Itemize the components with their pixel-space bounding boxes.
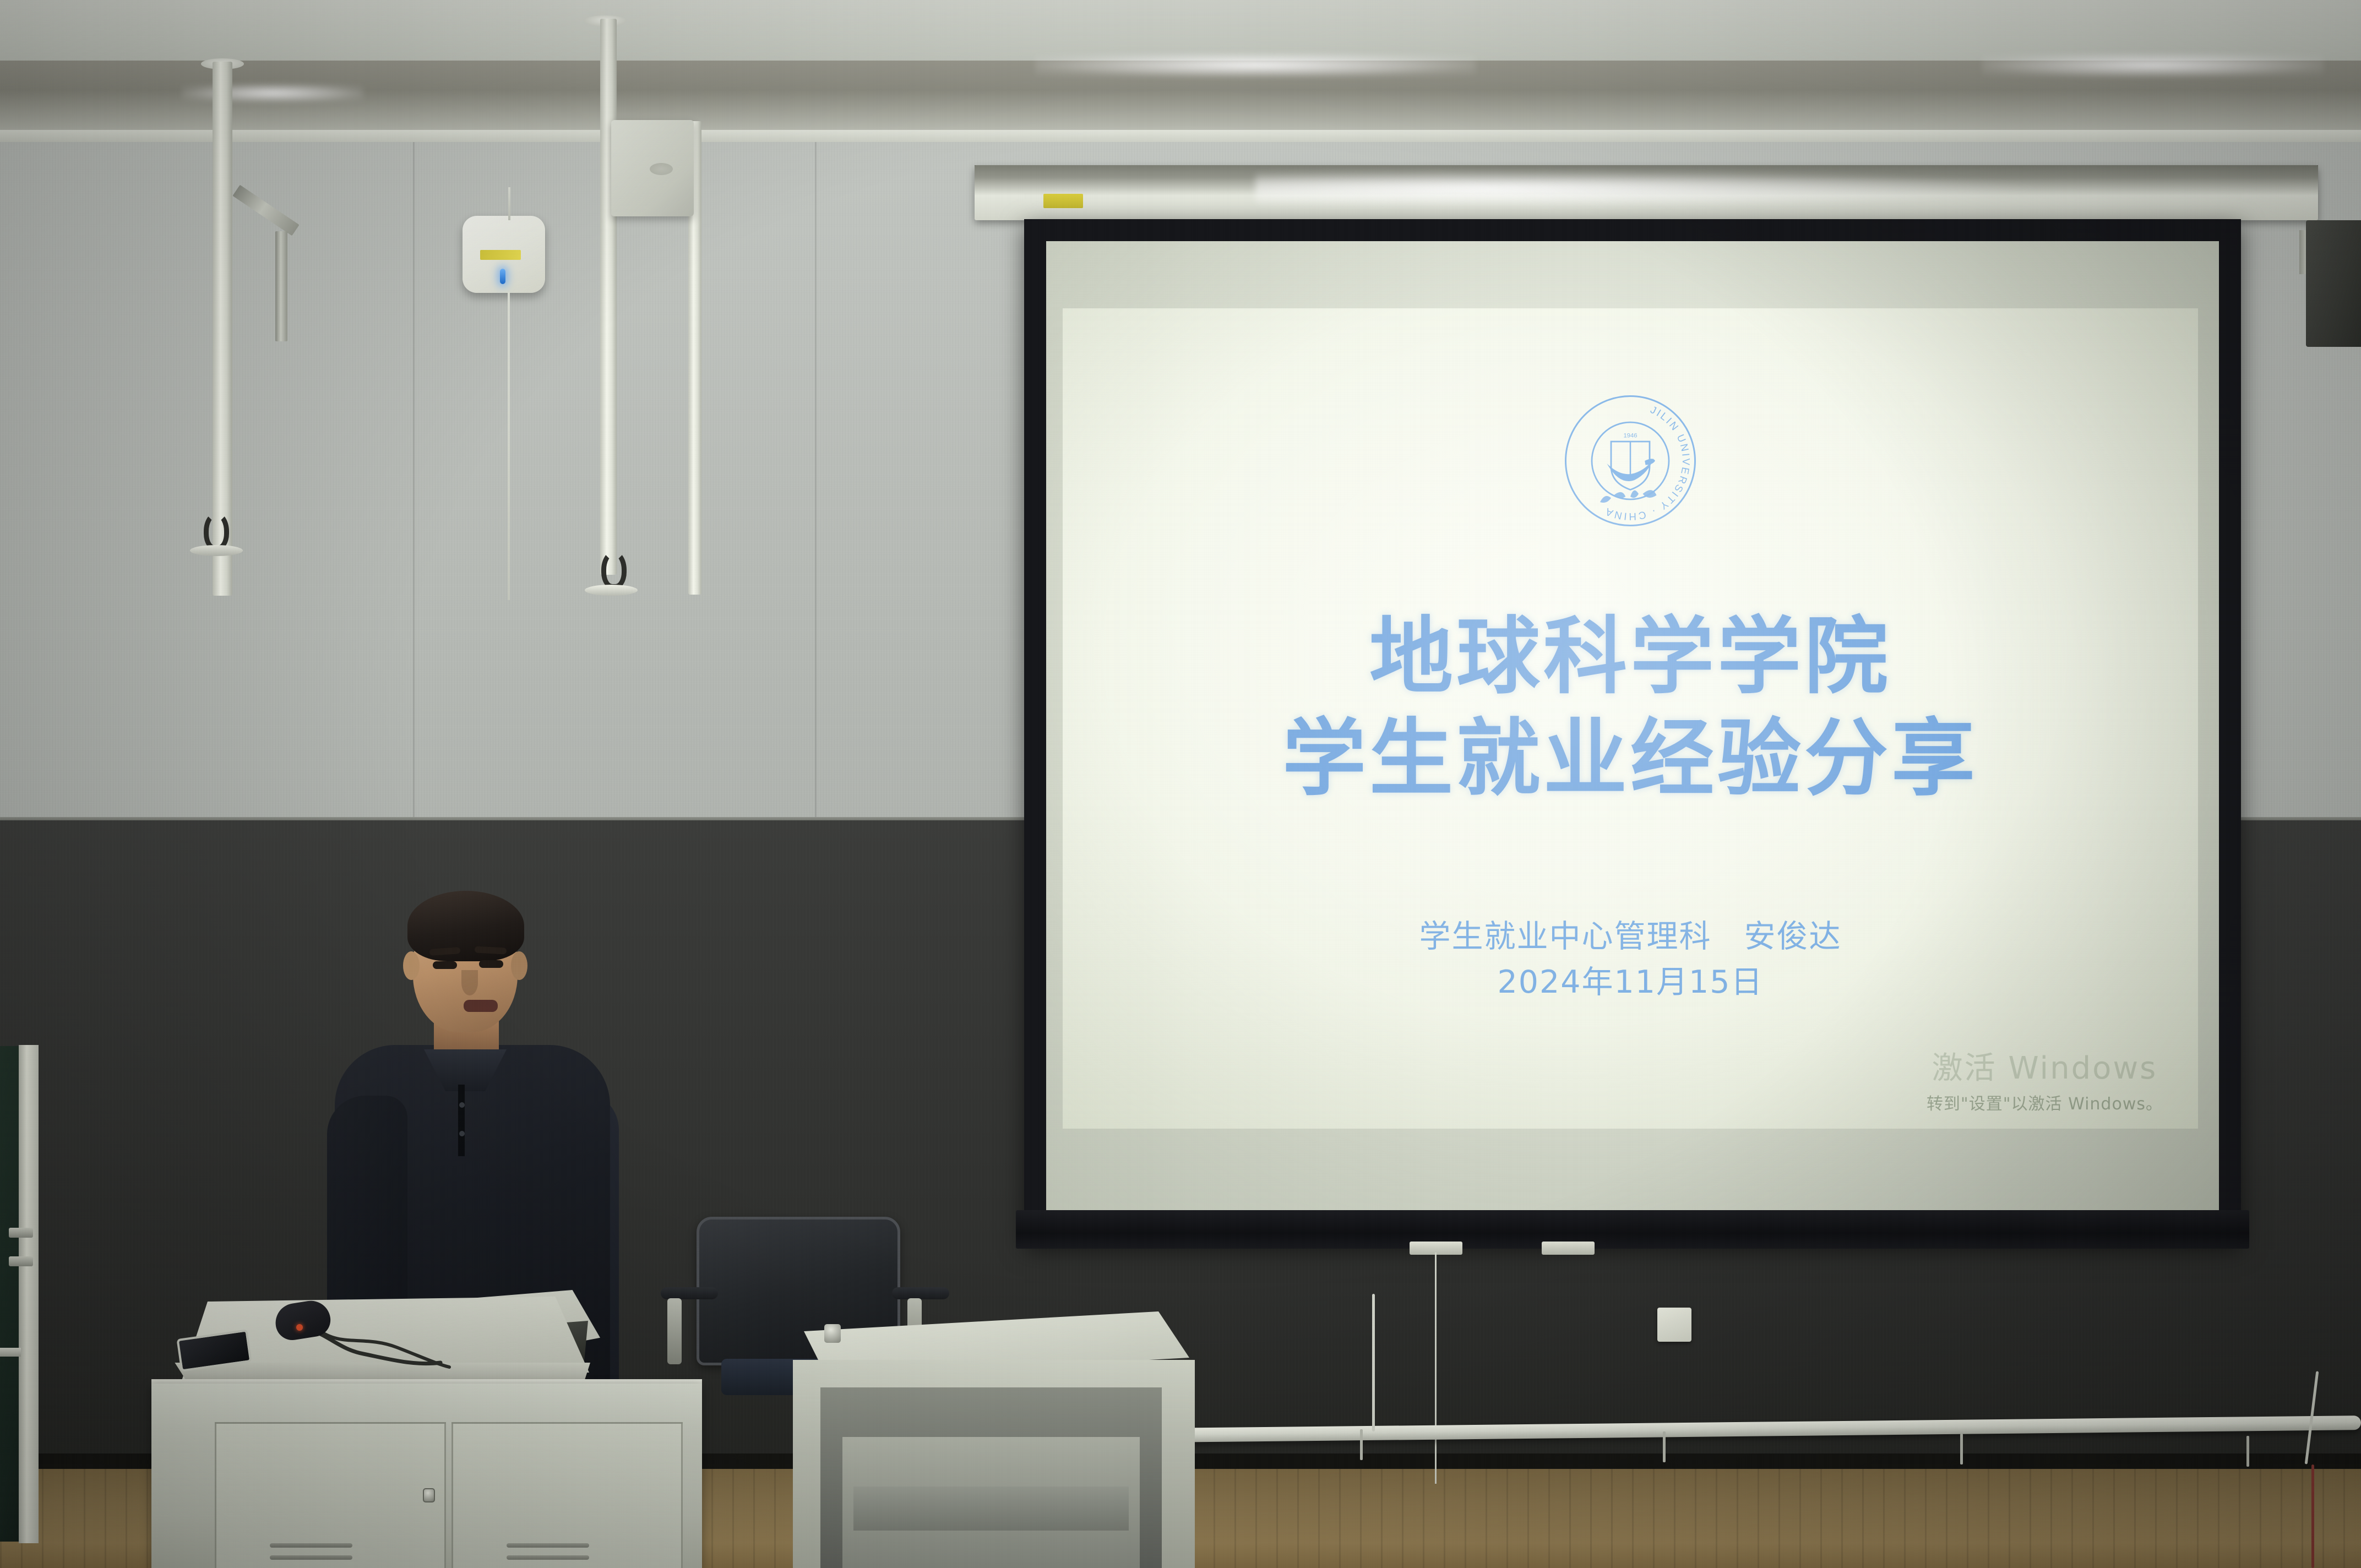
ceiling-hook-right [601, 551, 627, 589]
red-wire-right [2311, 1464, 2314, 1568]
conduit-strap-2 [1663, 1431, 1666, 1462]
hanging-wire-left [1372, 1294, 1375, 1431]
slide-title-line-2: 学生就业经验分享 [1063, 707, 2198, 809]
presenter-button-2 [459, 1131, 465, 1136]
slide-subtitle: 学生就业中心管理科 安俊达 2024年11月15日 [1063, 914, 2198, 1005]
screen-clip-right [1542, 1242, 1595, 1255]
ceiling-hook-left-plate [190, 545, 243, 556]
access-point-led-icon [500, 269, 505, 284]
presenter-ear-left [403, 951, 420, 980]
screen-housing-glare [1255, 170, 2054, 208]
presenter-hair [407, 891, 524, 961]
lectern [165, 1297, 820, 1568]
chalkboard-frame [19, 1045, 39, 1543]
access-point-cable-top [508, 187, 510, 220]
presenter-eye-right [479, 960, 503, 968]
watermark-title: 激活 Windows [1927, 1052, 2163, 1086]
photo-scene: JILIN UNIVERSITY · CHINA 1946 地球科学学院 学生就… [0, 0, 2361, 1568]
ceiling-light-right [1982, 53, 2324, 77]
pole-bracket-left-arm [275, 231, 287, 341]
wifi-access-point [463, 216, 545, 293]
lectern-vent-right-1 [507, 1543, 589, 1548]
wall-speaker-right [2306, 220, 2361, 347]
conduit-strap-4 [2246, 1436, 2249, 1467]
ceiling-hook-right-plate [585, 585, 638, 596]
projector-mount-dot [650, 163, 673, 175]
presenter-nose [461, 970, 478, 995]
screen-drop-cord [1435, 1253, 1437, 1484]
ceiling-light-far-left [182, 84, 363, 102]
wall-seam-2 [815, 142, 817, 825]
wall-seam-1 [413, 142, 415, 825]
presenter-placket [458, 1085, 465, 1156]
slide-subtitle-line-1: 学生就业中心管理科 安俊达 [1063, 914, 2198, 960]
presenter-button-1 [459, 1102, 465, 1108]
chalkboard-clip-1 [9, 1228, 33, 1238]
wall-power-outlet[interactable] [1657, 1308, 1691, 1342]
chalkboard-chalk-rail [0, 1348, 21, 1357]
access-point-cable-drop [508, 292, 510, 600]
presenter-ear-right [511, 951, 527, 980]
screen-warning-label [1043, 194, 1083, 208]
slide-title: 地球科学学院 学生就业经验分享 [1063, 606, 2198, 810]
lectern-lock[interactable] [423, 1488, 435, 1502]
ceiling-pole-right [600, 19, 617, 575]
lectern-vent-left-1 [270, 1543, 352, 1548]
equipment-cabinet-lock[interactable] [824, 1324, 841, 1343]
projected-slide: JILIN UNIVERSITY · CHINA 1946 地球科学学院 学生就… [1063, 308, 2198, 1129]
watermark-subtitle: 转到"设置"以激活 Windows。 [1927, 1090, 2163, 1114]
office-chair-arm-right-top [892, 1287, 949, 1299]
jilin-university-seal-icon: JILIN UNIVERSITY · CHINA 1946 [1562, 392, 1699, 530]
projection-screen-bottom-bar [1016, 1210, 2249, 1249]
windows-activation-watermark: 激活 Windows 转到"设置"以激活 Windows。 [1927, 1052, 2163, 1114]
svg-text:1946: 1946 [1623, 433, 1637, 439]
slide-title-line-1: 地球科学学院 [1063, 606, 2198, 707]
equipment-cabinet-computer [853, 1487, 1129, 1531]
ceiling-light-left [1035, 53, 1476, 77]
chalkboard-clip-2 [9, 1256, 33, 1266]
lectern-vent-left-2 [270, 1555, 352, 1560]
conduit-strap-1 [1360, 1429, 1363, 1460]
access-point-label [480, 250, 521, 260]
presenter-eye-left [433, 961, 457, 969]
slide-subtitle-line-2: 2024年11月15日 [1063, 960, 2198, 1005]
presenter-mouth [464, 1000, 498, 1012]
conduit-strap-3 [1960, 1434, 1963, 1464]
lectern-vent-right-2 [507, 1555, 589, 1560]
mouse-led-icon [296, 1324, 303, 1331]
